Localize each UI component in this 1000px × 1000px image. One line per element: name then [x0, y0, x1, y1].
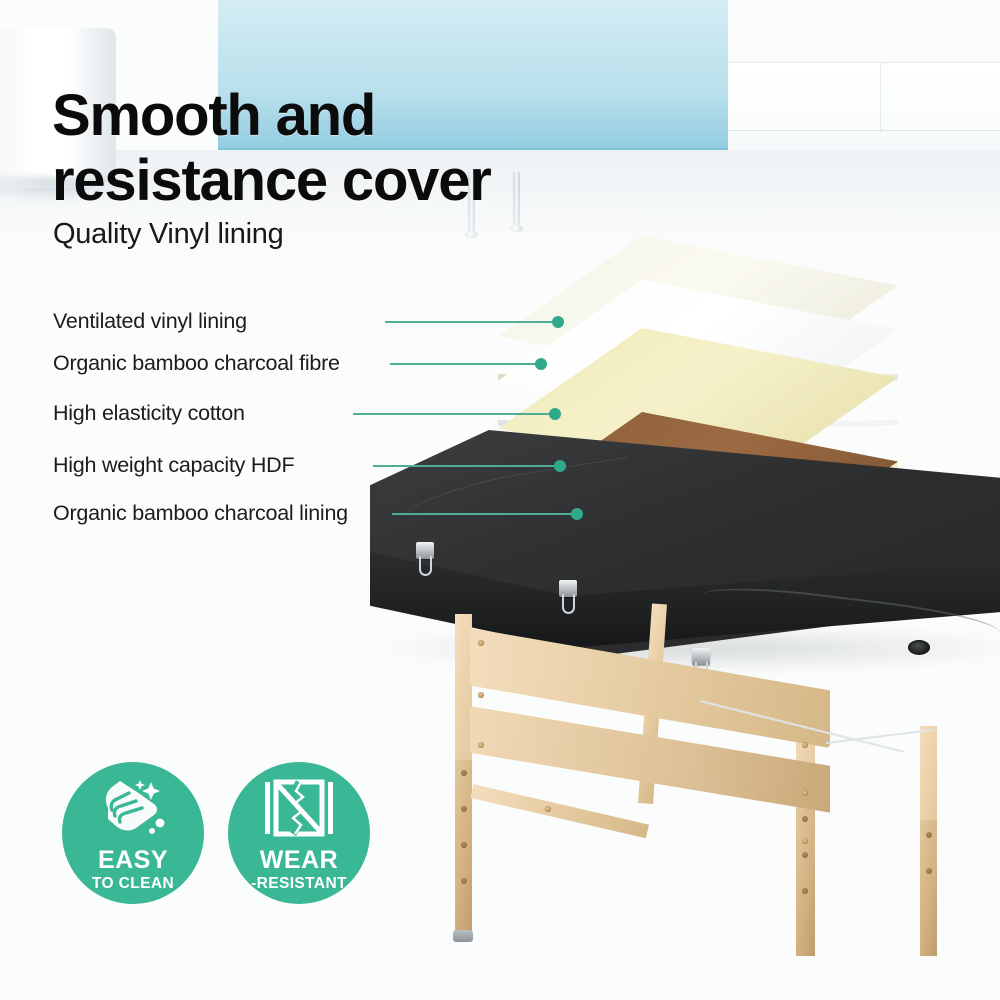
- feature-label-vinyl: Ventilated vinyl lining: [53, 308, 247, 334]
- badge-easy-to-clean[interactable]: EASY TO CLEAN: [62, 762, 204, 904]
- frame-screw: [478, 692, 484, 698]
- frame-screw: [545, 806, 551, 812]
- badge-subtitle: -RESISTANT: [228, 875, 370, 893]
- feature-label-mesh: Organic bamboo charcoal lining: [53, 500, 348, 526]
- wiping-hand-icon: [96, 778, 170, 845]
- leader-dot: [571, 508, 583, 520]
- height-adjust-hole: [461, 878, 467, 884]
- height-adjust-hole: [802, 816, 808, 822]
- badge-subtitle: TO CLEAN: [62, 875, 204, 893]
- leader-vinyl: [385, 309, 564, 335]
- feature-label-text: High elasticity cotton: [53, 401, 245, 426]
- feature-label-foam: High elasticity cotton: [53, 400, 245, 426]
- height-adjust-hole: [802, 852, 808, 858]
- leader-dot: [549, 408, 561, 420]
- height-adjust-hole: [461, 806, 467, 812]
- frame-leg-right-extension: [796, 806, 815, 956]
- height-adjust-hole: [461, 842, 467, 848]
- badge-wear-resistant[interactable]: WEAR -RESISTANT: [228, 762, 370, 904]
- feature-label-text: Ventilated vinyl lining: [53, 309, 247, 334]
- height-adjust-hole: [926, 868, 932, 874]
- frame-screw: [802, 790, 808, 796]
- trust-badge-row: EASY TO CLEAN WEAR -RESISTANT: [62, 762, 392, 910]
- leg-foot-cap: [453, 930, 473, 942]
- leader-mesh: [392, 501, 583, 527]
- feature-label-text: Organic bamboo charcoal lining: [53, 501, 348, 526]
- height-adjust-hole: [926, 832, 932, 838]
- badge-title: WEAR: [228, 846, 370, 875]
- leader-line: [390, 363, 536, 365]
- leader-line: [385, 321, 553, 323]
- torn-fabric-icon: [263, 778, 335, 845]
- frame-screw: [802, 742, 808, 748]
- leader-line: [373, 465, 555, 467]
- leader-dot: [554, 460, 566, 472]
- leader-dot: [535, 358, 547, 370]
- height-adjust-hole: [461, 770, 467, 776]
- feature-label-text: Organic bamboo charcoal fibre: [53, 351, 340, 376]
- feature-label-fibre: Organic bamboo charcoal fibre: [53, 350, 340, 376]
- feature-label-text: High weight capacity HDF: [53, 453, 294, 478]
- leader-line: [392, 513, 572, 515]
- leader-fibre: [390, 351, 547, 377]
- badge-title: EASY: [62, 846, 204, 875]
- leader-hdf: [373, 453, 566, 479]
- frame-leg-left-extension: [455, 760, 472, 936]
- leader-dot: [552, 316, 564, 328]
- height-adjust-hole: [802, 888, 808, 894]
- frame-diagonal-strut: [470, 784, 649, 838]
- leader-foam: [353, 401, 561, 427]
- frame-screw: [802, 838, 808, 844]
- frame-leg-far-right-extension: [920, 820, 937, 956]
- frame-screw: [478, 640, 484, 646]
- frame-screw: [478, 742, 484, 748]
- infographic-canvas: Smooth and resistance cover Quality Viny…: [0, 0, 1000, 1000]
- feature-label-hdf: High weight capacity HDF: [53, 452, 294, 478]
- leader-line: [353, 413, 550, 415]
